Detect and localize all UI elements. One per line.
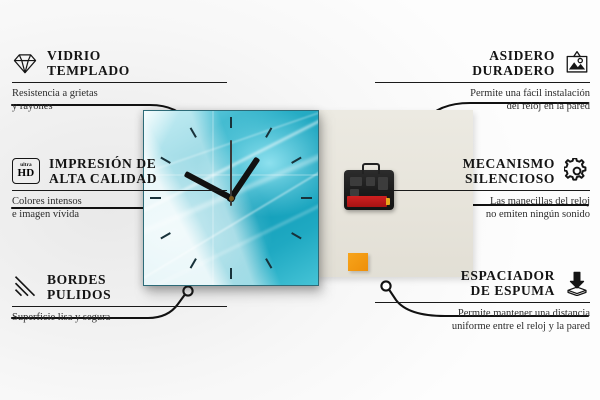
- feature-title: ESPACIADOR DE ESPUMA: [461, 268, 555, 298]
- clock-tick: [160, 232, 171, 239]
- gear-icon: [564, 158, 590, 184]
- divider: [375, 190, 590, 191]
- feature-impresion-alta-calidad: ultra HD IMPRESIÓN DE ALTA CALIDAD Color…: [12, 156, 227, 221]
- foam-spacer: [348, 253, 368, 271]
- feature-heading: ESPACIADOR DE ESPUMA: [375, 268, 590, 298]
- clock-tick: [230, 268, 232, 279]
- divider: [12, 306, 227, 307]
- feature-description: Colores intensos e imagen vívida: [12, 196, 227, 221]
- feature-description: Resistencia a grietas y rayones: [12, 88, 227, 113]
- feature-title: VIDRIO TEMPLADO: [47, 48, 130, 78]
- feature-title: MECANISMO SILENCIOSO: [463, 156, 555, 186]
- movement-slot: [350, 189, 359, 196]
- feature-vidrio-templado: VIDRIO TEMPLADO Resistencia a grietas y …: [12, 48, 227, 113]
- feature-heading: BORDES PULIDOS: [12, 272, 227, 302]
- ultra-hd-badge-icon: ultra HD: [12, 158, 40, 184]
- divider: [12, 190, 227, 191]
- clock-tick: [190, 127, 197, 138]
- infographic-canvas: VIDRIO TEMPLADO Resistencia a grietas y …: [0, 0, 600, 400]
- clock-center-pin: [229, 196, 234, 201]
- feature-heading: MECANISMO SILENCIOSO: [375, 156, 590, 186]
- divider: [375, 302, 590, 303]
- divider: [12, 82, 227, 83]
- clock-tick: [301, 197, 312, 199]
- movement-slot: [366, 177, 375, 186]
- feature-title: BORDES PULIDOS: [47, 272, 111, 302]
- clock-tick: [265, 258, 272, 269]
- clock-tick: [291, 232, 302, 239]
- feature-title: ASIDERO DURADERO: [472, 48, 555, 78]
- down-arrow-pad-icon: [564, 270, 590, 296]
- feature-mecanismo-silencioso: MECANISMO SILENCIOSO Las manecillas del …: [375, 156, 590, 221]
- feature-description: Superficie lisa y segura: [12, 312, 227, 325]
- feature-heading: ASIDERO DURADERO: [375, 48, 590, 78]
- diamond-icon: [12, 50, 38, 76]
- feature-description: Las manecillas del reloj no emiten ningú…: [375, 196, 590, 221]
- feature-asidero-duradero: ASIDERO DURADERO Permite una fácil insta…: [375, 48, 590, 113]
- feature-heading: ultra HD IMPRESIÓN DE ALTA CALIDAD: [12, 156, 227, 186]
- movement-slot: [350, 177, 362, 186]
- clock-tick: [230, 117, 232, 128]
- feature-espaciador-de-espuma: ESPACIADOR DE ESPUMA Permite mantener un…: [375, 268, 590, 333]
- divider: [375, 82, 590, 83]
- hanging-picture-frame-icon: [564, 50, 590, 76]
- feature-title: IMPRESIÓN DE ALTA CALIDAD: [49, 156, 157, 186]
- feature-description: Permite mantener una distancia uniforme …: [375, 308, 590, 333]
- feature-bordes-pulidos: BORDES PULIDOS Superficie lisa y segura: [12, 272, 227, 325]
- diagonal-lines-icon: [12, 274, 38, 300]
- feature-description: Permite una fácil instalación del reloj …: [375, 88, 590, 113]
- feature-heading: VIDRIO TEMPLADO: [12, 48, 227, 78]
